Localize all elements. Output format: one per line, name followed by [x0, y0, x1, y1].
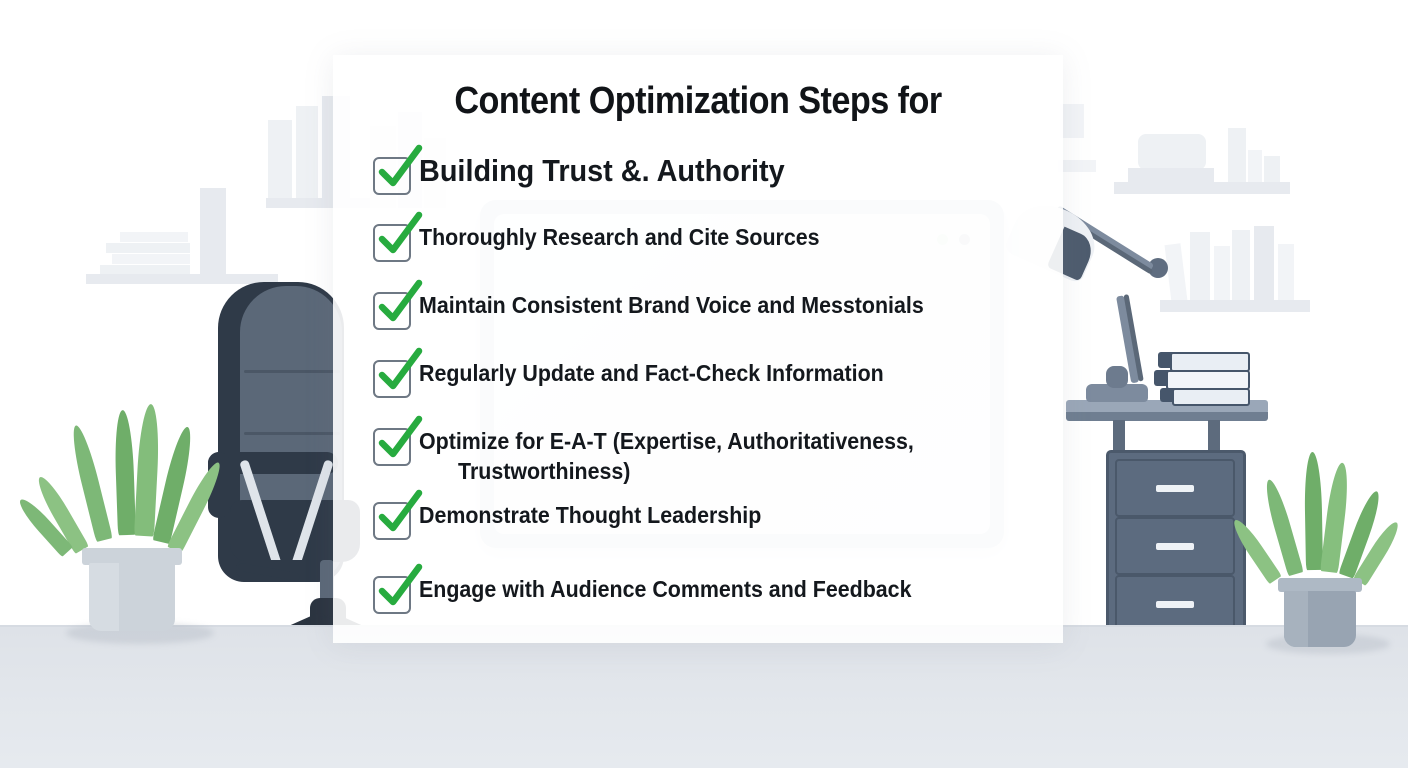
- checkbox-checked[interactable]: [373, 360, 411, 398]
- drawer-handle: [1156, 485, 1194, 492]
- checkbox-checked[interactable]: [373, 576, 411, 614]
- list-item[interactable]: Thoroughly Research and Cite Sources: [373, 222, 1033, 262]
- checklist: Building Trust &. Authority Thoroughly R…: [373, 153, 1033, 614]
- desk-cabinet: [1106, 450, 1246, 642]
- checkbox-checked[interactable]: [373, 292, 411, 330]
- list-item-label: Regularly Update and Fact-Check Informat…: [419, 358, 884, 388]
- list-item-label: Optimize for E-A-T (Expertise, Authorita…: [419, 428, 914, 454]
- check-icon: [374, 565, 422, 613]
- check-icon: [374, 146, 422, 194]
- list-item[interactable]: Building Trust &. Authority: [373, 153, 1033, 195]
- list-item-label-line2: Trustworthiness): [419, 456, 914, 486]
- potted-plant-left: [60, 400, 220, 650]
- drawer-2[interactable]: [1115, 517, 1235, 575]
- check-icon: [374, 349, 422, 397]
- checkbox-checked[interactable]: [373, 428, 411, 466]
- check-icon: [374, 417, 422, 465]
- list-item-label: Maintain Consistent Brand Voice and Mess…: [419, 290, 924, 320]
- drawer-1[interactable]: [1115, 459, 1235, 517]
- check-icon: [374, 491, 422, 539]
- list-item[interactable]: Demonstrate Thought Leadership: [373, 500, 1033, 540]
- check-icon: [374, 281, 422, 329]
- page-title: Content Optimization Steps for: [370, 79, 1027, 123]
- list-item[interactable]: Engage with Audience Comments and Feedba…: [373, 574, 1033, 614]
- drawer-handle: [1156, 601, 1194, 608]
- checklist-card: Content Optimization Steps for Building …: [333, 55, 1063, 643]
- checkbox-checked[interactable]: [373, 224, 411, 262]
- list-item[interactable]: Maintain Consistent Brand Voice and Mess…: [373, 290, 1033, 330]
- checkbox-checked[interactable]: [373, 502, 411, 540]
- check-icon: [374, 213, 422, 261]
- list-item[interactable]: Optimize for E-A-T (Expertise, Authorita…: [373, 426, 1033, 486]
- list-item[interactable]: Regularly Update and Fact-Check Informat…: [373, 358, 1033, 398]
- drawer-handle: [1156, 543, 1194, 550]
- list-item-label: Engage with Audience Comments and Feedba…: [419, 574, 911, 604]
- potted-plant-right: [1258, 448, 1408, 658]
- scene-root: Content Optimization Steps for Building …: [0, 0, 1408, 768]
- list-item-label: Thoroughly Research and Cite Sources: [419, 222, 820, 252]
- list-item-label: Demonstrate Thought Leadership: [419, 500, 761, 530]
- checkbox-checked[interactable]: [373, 157, 411, 195]
- list-item-label: Building Trust &. Authority: [419, 153, 785, 189]
